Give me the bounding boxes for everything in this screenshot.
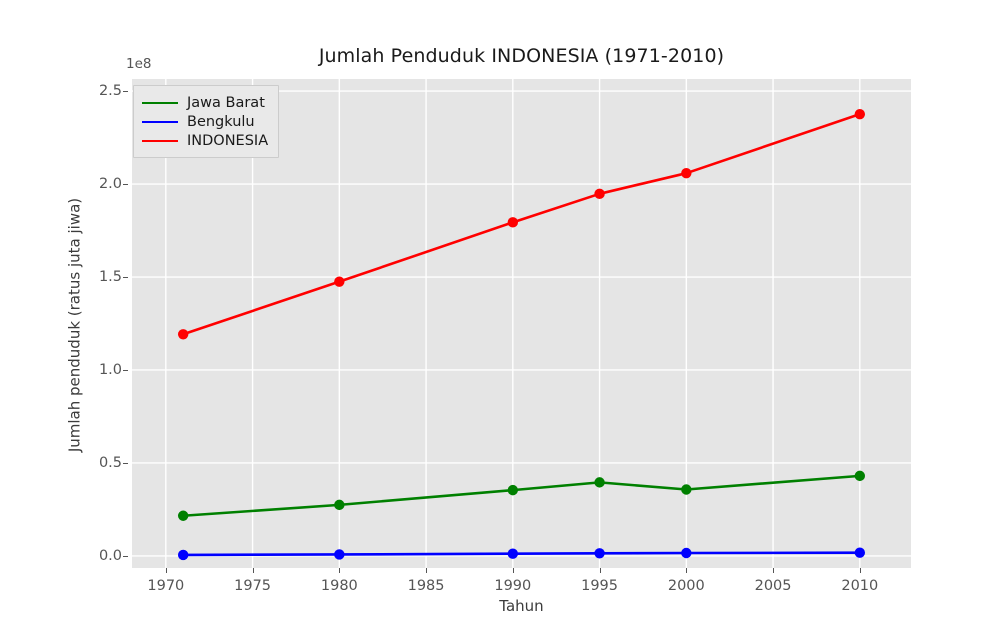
data-point-marker (681, 168, 691, 178)
series-indonesia (178, 109, 865, 340)
y-axis-offset-label: 1e8 (126, 56, 151, 72)
x-tick-mark (860, 568, 861, 573)
data-point-marker (334, 276, 344, 286)
y-tick-mark (123, 277, 128, 278)
data-point-marker (594, 477, 604, 487)
y-tick-label: 2.5 (99, 83, 122, 99)
y-tick-label: 2.0 (99, 176, 122, 192)
y-tick-label: 0.0 (99, 548, 122, 564)
y-tick-label: 1.5 (99, 269, 122, 285)
x-tick-mark (686, 568, 687, 573)
legend-entry[interactable]: INDONESIA (142, 131, 268, 150)
legend-color-swatch (142, 102, 178, 104)
legend-label: INDONESIA (187, 133, 268, 149)
data-point-marker (855, 471, 865, 481)
series-jawa-barat (178, 471, 865, 521)
y-tick-mark (123, 556, 128, 557)
x-tick-mark (253, 568, 254, 573)
x-tick-mark (513, 568, 514, 573)
series-line (183, 553, 860, 555)
data-point-marker (334, 500, 344, 510)
data-point-marker (508, 549, 518, 559)
y-tick-mark (123, 184, 128, 185)
y-tick-mark (123, 463, 128, 464)
x-tick-label: 1980 (321, 578, 358, 594)
x-tick-mark (166, 568, 167, 573)
data-point-marker (178, 329, 188, 339)
x-tick-mark (600, 568, 601, 573)
legend-entry[interactable]: Jawa Barat (142, 93, 268, 112)
series-bengkulu (178, 548, 865, 561)
y-axis-title: Jumlah penduduk (ratus juta jiwa) (66, 81, 84, 570)
y-tick-label: 1.0 (99, 362, 122, 378)
data-point-marker (681, 484, 691, 494)
data-point-marker (178, 511, 188, 521)
x-tick-label: 1975 (234, 578, 271, 594)
data-point-marker (855, 109, 865, 119)
x-tick-label: 1970 (147, 578, 184, 594)
legend-label: Jawa Barat (187, 95, 265, 111)
x-tick-mark (773, 568, 774, 573)
x-tick-label: 1985 (408, 578, 445, 594)
x-tick-label: 1990 (494, 578, 531, 594)
data-point-marker (508, 217, 518, 227)
legend-color-swatch (142, 121, 178, 123)
y-tick-label: 0.5 (99, 455, 122, 471)
series-line (183, 476, 860, 516)
x-tick-label: 1995 (581, 578, 618, 594)
x-tick-label: 2000 (668, 578, 705, 594)
y-tick-mark (123, 370, 128, 371)
x-tick-mark (339, 568, 340, 573)
x-axis-title: Tahun (132, 597, 911, 615)
chart-title: Jumlah Penduduk INDONESIA (1971-2010) (132, 45, 911, 67)
data-point-marker (334, 549, 344, 559)
data-point-marker (855, 548, 865, 558)
x-tick-mark (426, 568, 427, 573)
legend-color-swatch (142, 140, 178, 142)
legend-label: Bengkulu (187, 114, 255, 130)
x-tick-label: 2010 (841, 578, 878, 594)
data-point-marker (681, 548, 691, 558)
legend-entry[interactable]: Bengkulu (142, 112, 268, 131)
x-tick-label: 2005 (755, 578, 792, 594)
data-point-marker (178, 550, 188, 560)
series-line (183, 114, 860, 334)
data-point-marker (508, 485, 518, 495)
data-point-marker (594, 189, 604, 199)
data-point-marker (594, 548, 604, 558)
matplotlib-figure: Jumlah Penduduk INDONESIA (1971-2010) 1e… (0, 0, 1007, 637)
y-tick-mark (123, 91, 128, 92)
chart-legend: Jawa BaratBengkuluINDONESIA (133, 85, 279, 158)
